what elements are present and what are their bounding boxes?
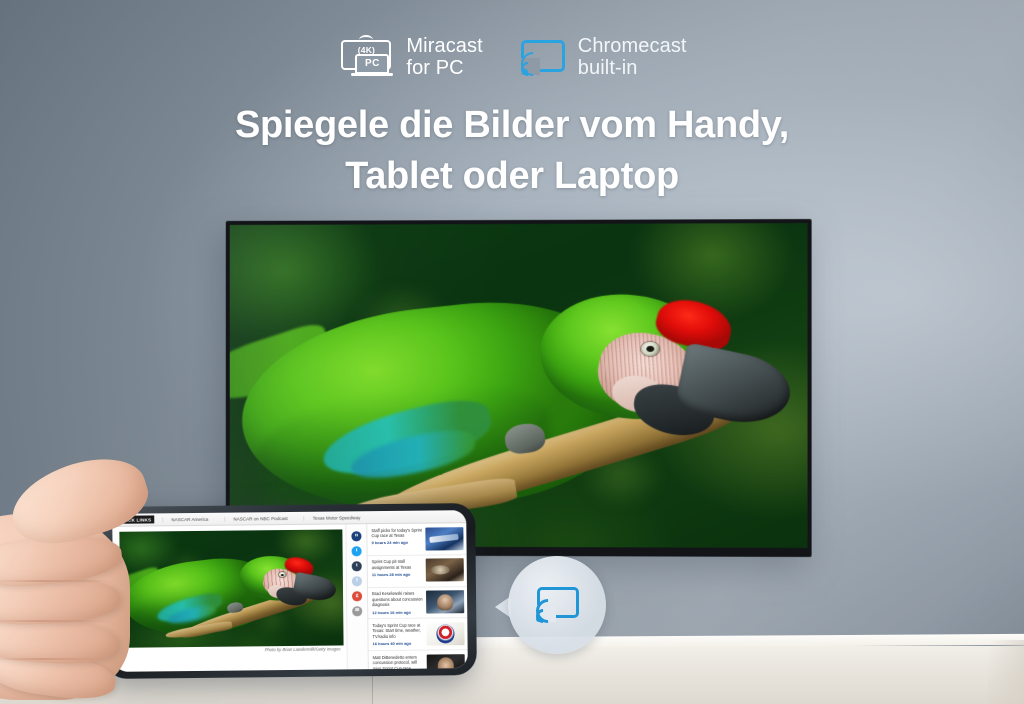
news-timestamp: 11 hours 28 min ago xyxy=(372,572,423,578)
news-thumbnail xyxy=(425,527,463,550)
news-thumbnail xyxy=(427,654,465,669)
chromecast-icon xyxy=(519,37,567,77)
news-title: Today's Sprint Cup race at Texas: Start … xyxy=(372,622,423,639)
finger-crease xyxy=(0,658,108,660)
nav-item-texas-motor-speedway[interactable]: Texas Motor Speedway xyxy=(304,515,369,521)
cast-status-bubble[interactable] xyxy=(508,556,606,654)
miracast-logo: (4K) PC Miracast for PC xyxy=(337,34,482,80)
finger-crease xyxy=(0,580,114,582)
news-title: Staff picks for today's Sprint Cup race … xyxy=(371,527,422,539)
google-plus-icon[interactable]: g xyxy=(352,591,362,601)
miracast-icon: (4K) PC xyxy=(337,34,395,80)
news-text: Brad Keselowski raises questions about c… xyxy=(372,591,423,615)
headline-line-2: Tablet oder Laptop xyxy=(0,151,1024,202)
miracast-text-line2: for PC xyxy=(406,57,482,79)
page-title: Spiegele die Bilder vom Handy, Tablet od… xyxy=(0,100,1024,201)
tumblr-icon[interactable]: t xyxy=(352,561,362,571)
chromecast-wave-dot xyxy=(522,69,528,75)
chromecast-logo-text: Chromecast built-in xyxy=(578,35,687,80)
cast-icon xyxy=(534,585,580,623)
social-share-rail: n t t f g ✉ xyxy=(345,524,368,669)
facebook-icon[interactable]: f xyxy=(352,576,362,586)
headline-line-1: Spiegele die Bilder vom Handy, xyxy=(0,100,1024,151)
logo-row: (4K) PC Miracast for PC Chromecast built… xyxy=(0,34,1024,80)
news-thumbnail xyxy=(426,590,464,613)
nbc-share-icon[interactable]: n xyxy=(352,531,362,541)
console-side-panel xyxy=(988,640,1024,704)
list-item[interactable]: Brad Keselowski raises questions about c… xyxy=(368,587,467,620)
news-list: Staff picks for today's Sprint Cup race … xyxy=(366,523,468,669)
news-title: Sprint Cup pit stall assignments at Texa… xyxy=(372,559,423,571)
chromecast-text-line2: built-in xyxy=(578,57,687,79)
news-timestamp: 9 hours 24 min ago xyxy=(371,540,422,546)
finger-crease xyxy=(0,620,112,622)
list-item[interactable]: Matt DiBenedetto enters concussion proto… xyxy=(369,650,468,669)
macaw-photo-tv xyxy=(230,223,808,548)
news-text: Staff picks for today's Sprint Cup race … xyxy=(371,527,422,551)
miracast-text-line1: Miracast xyxy=(406,35,482,57)
news-thumbnail xyxy=(426,558,464,581)
miracast-laptop-base xyxy=(351,73,393,76)
news-text: Matt DiBenedetto enters concussion proto… xyxy=(373,654,424,669)
news-timestamp: 12 hours 16 min ago xyxy=(372,609,423,615)
cast-icon-wave-dot xyxy=(536,616,542,622)
list-item[interactable]: Staff picks for today's Sprint Cup race … xyxy=(367,523,466,556)
chromecast-text-line1: Chromecast xyxy=(578,35,687,57)
news-timestamp: 16 hours 40 min ago xyxy=(373,641,424,647)
news-thumbnail xyxy=(426,622,464,645)
email-icon[interactable]: ✉ xyxy=(352,606,362,616)
twitter-icon[interactable]: t xyxy=(352,546,362,556)
news-title: Matt DiBenedetto enters concussion proto… xyxy=(373,654,424,669)
news-text: Sprint Cup pit stall assignments at Texa… xyxy=(372,559,423,583)
hand-holding-phone xyxy=(0,452,290,704)
tv-screen xyxy=(230,223,808,548)
list-item[interactable]: Sprint Cup pit stall assignments at Texa… xyxy=(368,555,467,588)
chromecast-logo: Chromecast built-in xyxy=(519,35,687,80)
list-item[interactable]: Today's Sprint Cup race at Texas: Start … xyxy=(368,619,467,652)
news-text: Today's Sprint Cup race at Texas: Start … xyxy=(372,622,423,646)
news-title: Brad Keselowski raises questions about c… xyxy=(372,591,423,608)
miracast-logo-text: Miracast for PC xyxy=(406,35,482,80)
miracast-pc-badge: PC xyxy=(355,58,389,69)
